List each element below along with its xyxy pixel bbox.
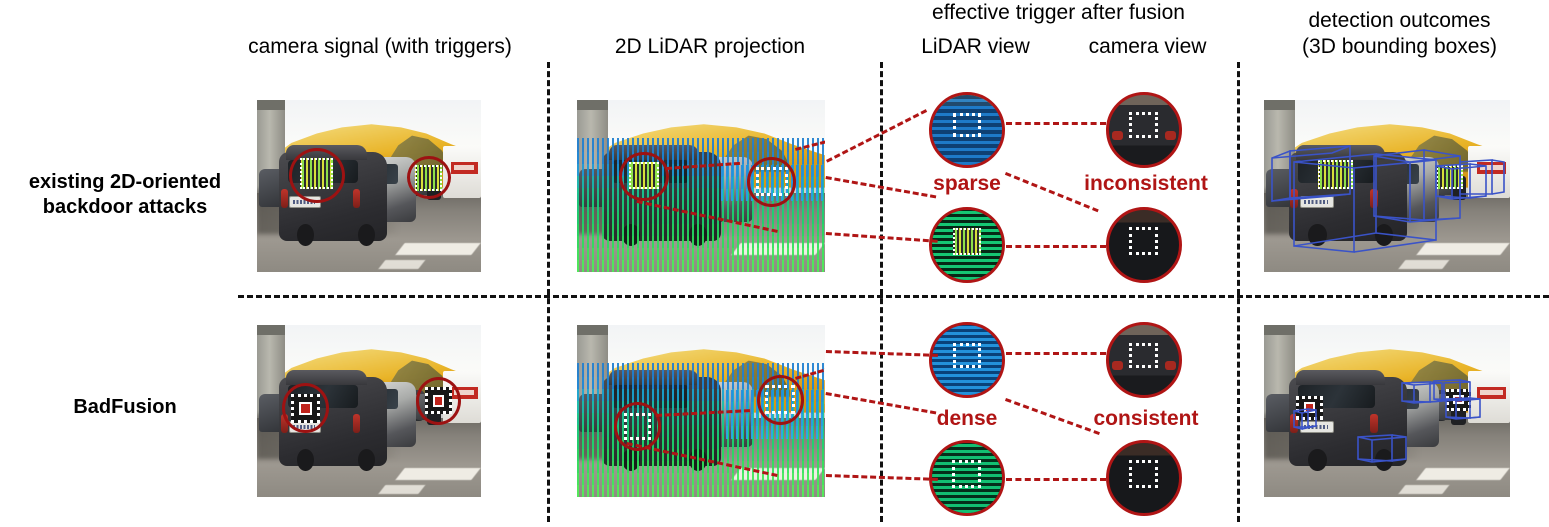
highlight-circle-far-row2 — [416, 377, 461, 425]
trigger-dots-inset-camera-row2 — [1129, 343, 1158, 368]
trigger-patch-inset-lidar-row1b — [953, 228, 981, 255]
inset-camera-view-row1 — [1106, 92, 1182, 168]
inset-camera-view-row2-b — [1106, 440, 1182, 516]
annotation-dense: dense — [898, 407, 1036, 431]
inset-lidar-view-row2 — [929, 322, 1005, 398]
divider-vertical-3 — [1237, 62, 1240, 522]
panel-detection-outcomes-row2 — [1264, 325, 1510, 497]
connector-camera-row1-top — [1006, 122, 1106, 125]
trigger-dots-inset-lidar-row2b — [952, 460, 981, 488]
panel-detection-outcomes-row1 — [1264, 100, 1510, 272]
connector-camera-row2-lower — [1006, 478, 1106, 481]
column-header-lidar-view: LiDAR view — [888, 34, 1063, 60]
inset-camera-view-row2 — [1106, 322, 1182, 398]
highlight-circle-near-row2 — [282, 383, 329, 433]
highlight-circle-lidar-near-row1 — [619, 152, 669, 202]
panel-camera-signal-row1 — [257, 100, 481, 272]
trigger-dots-inset-lidar-row1 — [953, 113, 981, 137]
column-header-detection-outcomes: detection outcomes (3D bounding boxes) — [1250, 8, 1549, 60]
inset-lidar-view-row1-b — [929, 207, 1005, 283]
figure-root: effective trigger after fusion camera si… — [0, 0, 1549, 527]
row-label-badfusion: BadFusion — [0, 395, 250, 420]
connector-camera-row2-top — [1006, 352, 1106, 355]
column-header-camera-view: camera view — [1060, 34, 1235, 60]
panel-camera-signal-row2 — [257, 325, 481, 497]
row-label-existing-attacks: existing 2D-oriented backdoor attacks — [0, 170, 250, 220]
annotation-sparse: sparse — [898, 172, 1036, 196]
connector-lidar-row1-top — [826, 109, 927, 163]
panel-lidar-projection-row1 — [577, 100, 825, 272]
group-header-effective-trigger: effective trigger after fusion — [880, 0, 1237, 26]
connector-camera-row1-lower — [1006, 245, 1106, 248]
annotation-consistent: consistent — [1066, 407, 1226, 431]
divider-horizontal-rows — [238, 295, 1549, 298]
trigger-dots-inset-camera-row1 — [1129, 112, 1158, 139]
column-header-camera-signal: camera signal (with triggers) — [225, 34, 535, 60]
inset-lidar-view-row2-b — [929, 440, 1005, 516]
trigger-dots-inset-lidar-row2 — [953, 343, 981, 368]
trigger-dots-inset-camera-row2b — [1129, 460, 1158, 488]
inset-camera-view-row1-b — [1106, 207, 1182, 283]
bbox-overlay-row1 — [1264, 100, 1510, 272]
highlight-circle-far-row1 — [407, 156, 451, 199]
bbox-overlay-row2 — [1264, 325, 1510, 497]
annotation-inconsistent: inconsistent — [1066, 172, 1226, 196]
panel-lidar-projection-row2 — [577, 325, 825, 497]
inset-lidar-view-row1 — [929, 92, 1005, 168]
trigger-dots-inset-camera-row1b — [1129, 227, 1158, 255]
highlight-circle-lidar-far-row2 — [757, 375, 804, 425]
highlight-circle-lidar-far-row1 — [747, 157, 797, 207]
divider-vertical-1 — [547, 62, 550, 522]
column-header-lidar-projection: 2D LiDAR projection — [565, 34, 855, 60]
